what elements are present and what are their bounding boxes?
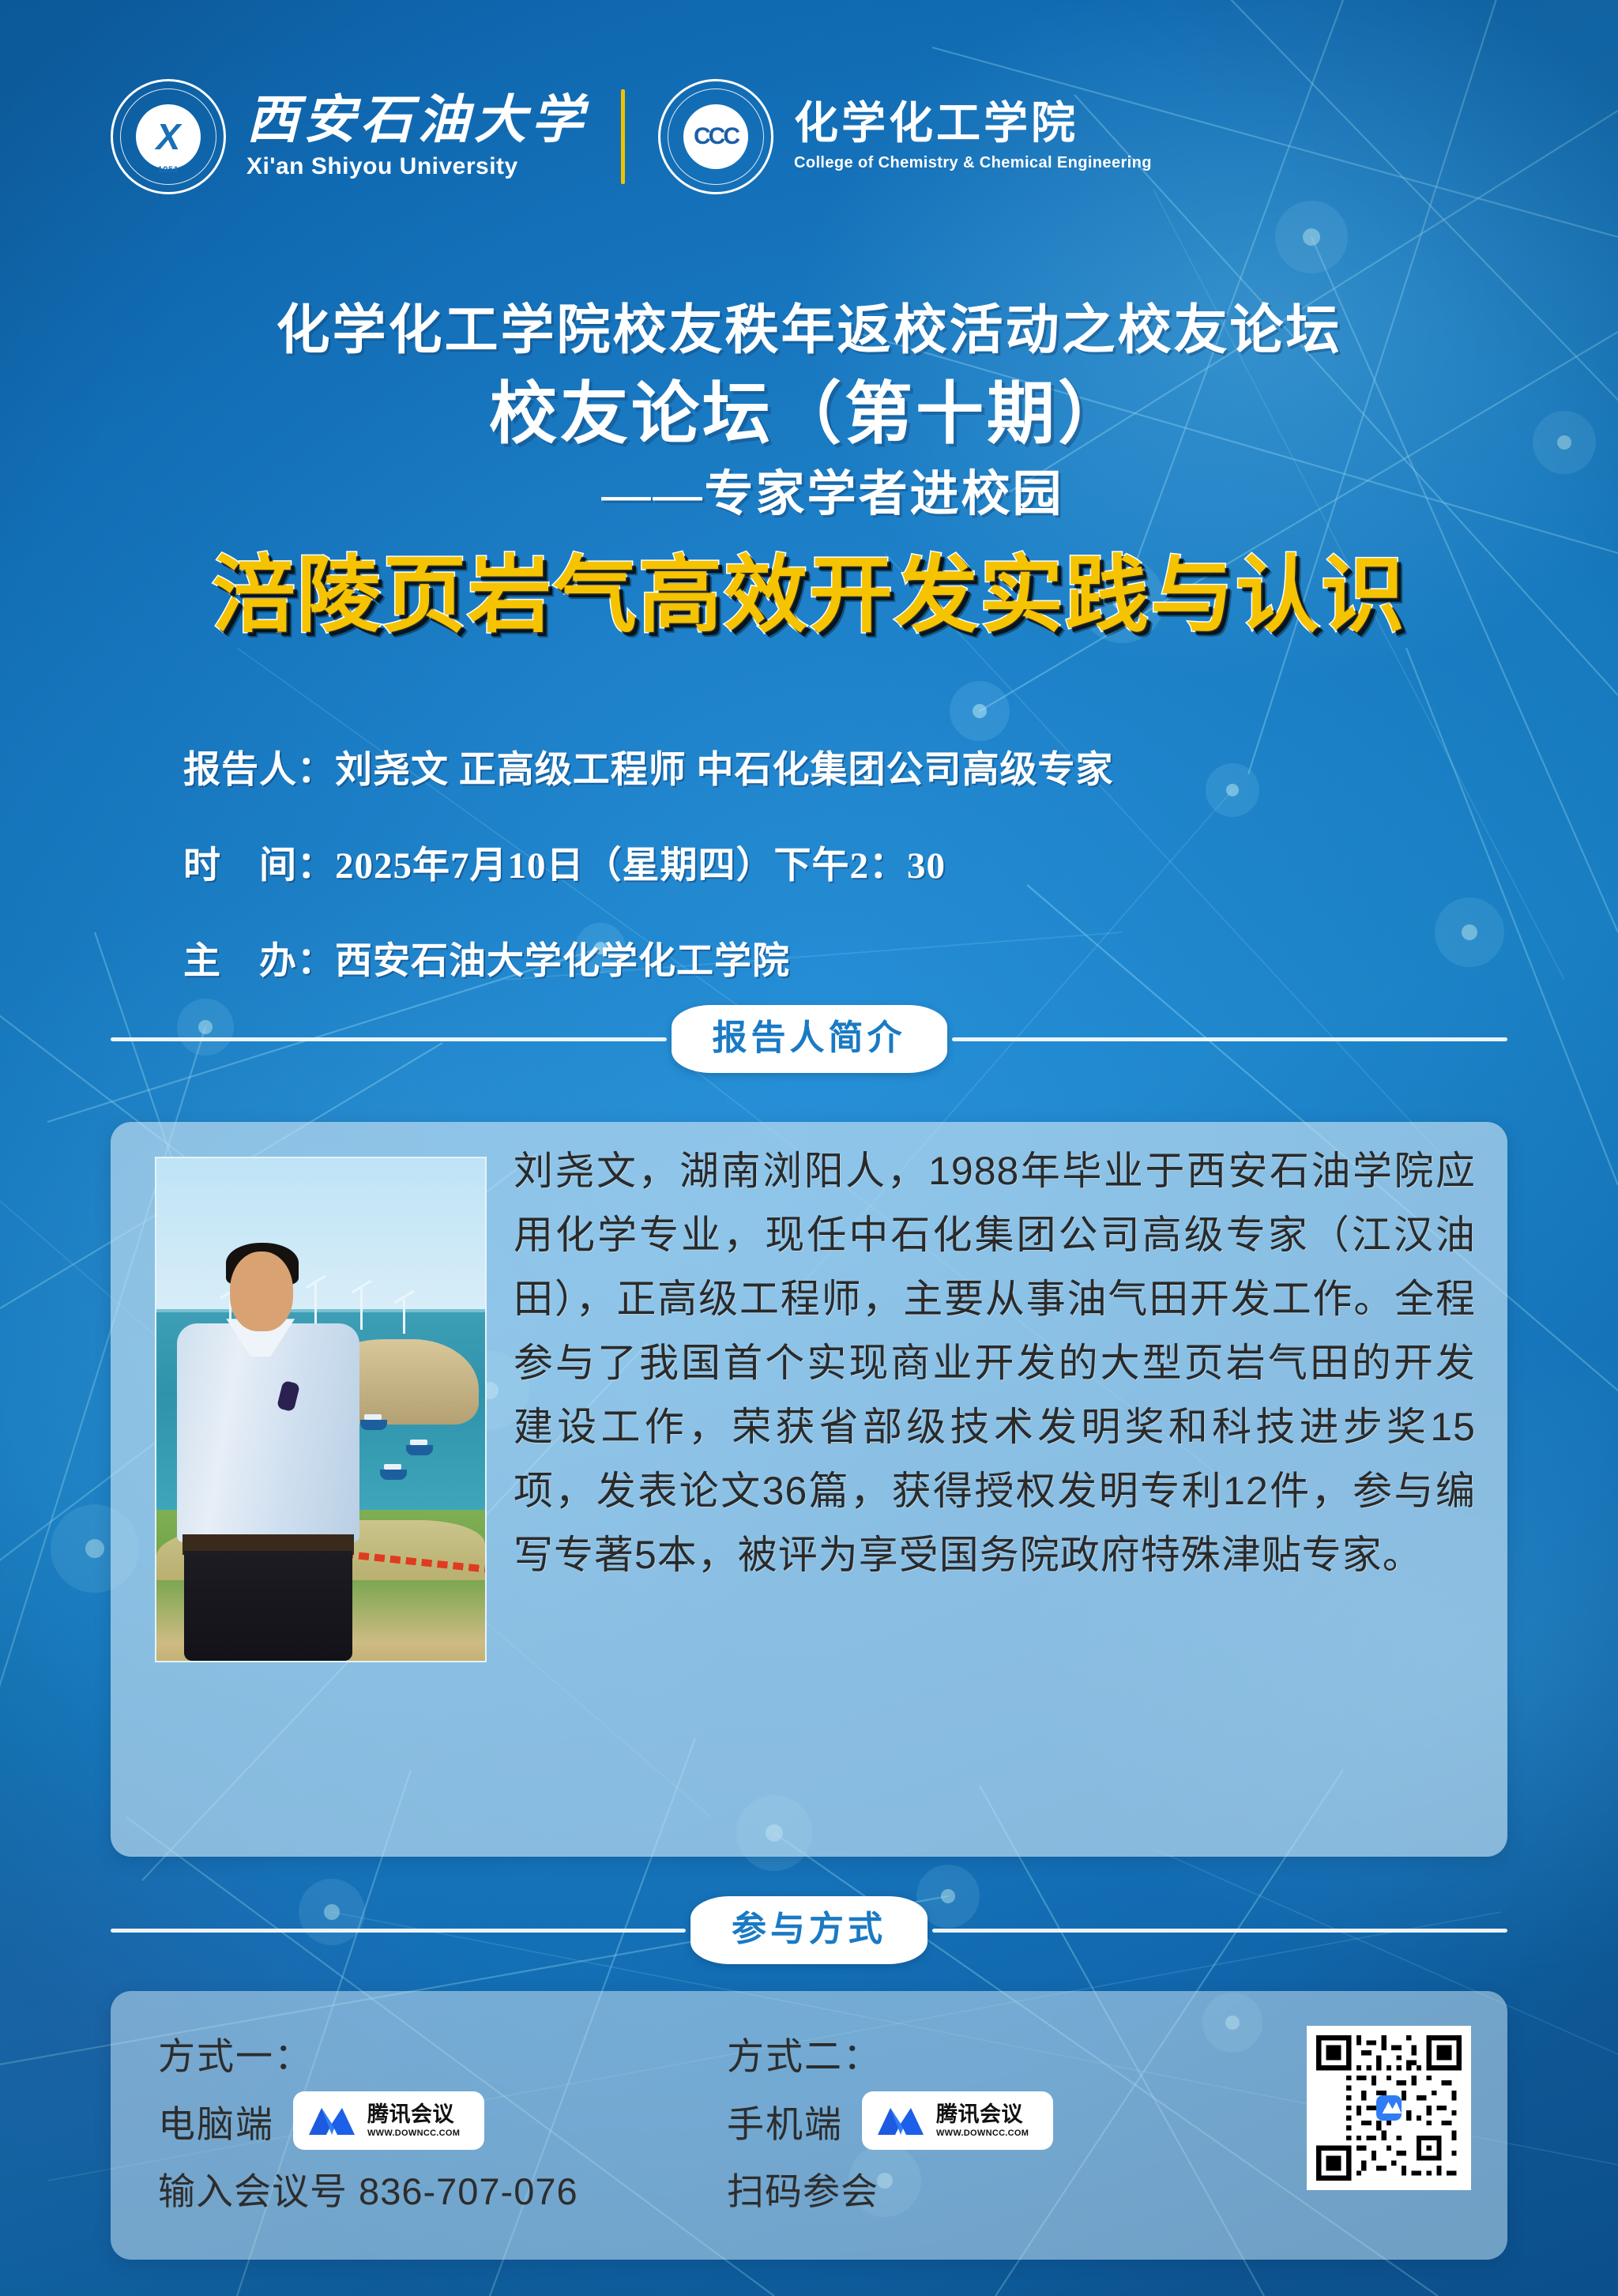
join-method-two-title: 方式二： (727, 2026, 1217, 2080)
section-header-speaker-bio: 报告人简介 (111, 1005, 1507, 1073)
join-method-two-device-label: 手机端 (727, 2094, 843, 2148)
header-divider (621, 89, 625, 184)
section-title-join-method: 参与方式 (690, 1896, 928, 1964)
university-seal-year: 1951 (113, 165, 224, 175)
college-seal-icon: CCC (658, 79, 773, 194)
event-series-title: 化学化工学院校友秩年返校活动之校友论坛 (0, 299, 1618, 362)
tencent-meeting-url-mobile: WWW.DOWNCC.COM (936, 2129, 1029, 2138)
header-logos: X 1951 西安石油大学 Xi'an Shiyou University CC… (111, 79, 1152, 194)
section-rule-left-2 (111, 1929, 686, 1933)
university-seal-icon: X 1951 (111, 79, 226, 194)
tencent-meeting-icon-2 (876, 2103, 925, 2138)
speaker-photo (155, 1157, 487, 1662)
college-monogram-letters: CCC (694, 125, 738, 149)
info-label-time: 时 间： (183, 834, 335, 889)
info-row-speaker: 报告人：刘尧文 正高级工程师 中石化集团公司高级专家 (183, 739, 1114, 793)
event-info-list: 报告人：刘尧文 正高级工程师 中石化集团公司高级专家 时 间：2025年7月10… (183, 739, 1114, 1026)
info-value-organizer: 西安石油大学化学化工学院 (335, 941, 790, 982)
tencent-meeting-name-mobile: 腾讯会议 (936, 2104, 1029, 2125)
tencent-meeting-icon (307, 2103, 356, 2138)
section-rule-right (952, 1037, 1508, 1041)
join-method-one-title: 方式一： (158, 2026, 727, 2080)
join-method-one-instruction: 输入会议号 836-707-076 (158, 2161, 727, 2215)
title-block: 化学化工学院校友秩年返校活动之校友论坛 校友论坛（第十期） ——专家学者进校园 … (0, 299, 1618, 646)
university-wordmark: 西安石油大学 Xi'an Shiyou University (246, 93, 588, 179)
college-logo-lockup: CCC 化学化工学院 College of Chemistry & Chemic… (658, 79, 1152, 194)
info-label-organizer: 主 办： (183, 930, 335, 984)
university-logo-lockup: X 1951 西安石油大学 Xi'an Shiyou University (111, 79, 588, 194)
university-name-cn: 西安石油大学 (246, 93, 588, 148)
university-seal-monogram-icon: X (136, 104, 201, 169)
tencent-meeting-logo-mobile[interactable]: 腾讯会议 WWW.DOWNCC.COM (862, 2091, 1053, 2150)
join-methods-panel: 方式一： 电脑端 腾讯会议 WWW.DOWNCC.COM 输入会议号 836-7… (111, 1991, 1507, 2260)
poster-root: X 1951 西安石油大学 Xi'an Shiyou University CC… (0, 0, 1618, 2296)
info-value-time: 2025年7月10日（星期四）下午2：30 (335, 845, 946, 886)
university-name-en: Xi'an Shiyou University (246, 153, 588, 180)
join-method-two-instruction: 扫码参会 (727, 2161, 1217, 2215)
info-value-speaker: 刘尧文 正高级工程师 中石化集团公司高级专家 (335, 750, 1114, 791)
join-method-one-device-label: 电脑端 (158, 2094, 274, 2148)
event-subtitle: ——专家学者进校园 (0, 465, 1618, 526)
info-row-organizer: 主 办：西安石油大学化学化工学院 (183, 930, 1114, 984)
section-header-join-method: 参与方式 (111, 1896, 1507, 1964)
college-name-cn: 化学化工学院 (794, 101, 1152, 148)
section-rule-right-2 (932, 1929, 1507, 1933)
tencent-meeting-logo-desktop[interactable]: 腾讯会议 WWW.DOWNCC.COM (293, 2091, 484, 2150)
info-row-time: 时 间：2025年7月10日（星期四）下午2：30 (183, 834, 1114, 889)
section-title-speaker-bio: 报告人简介 (672, 1005, 947, 1073)
info-label-speaker: 报告人： (183, 739, 335, 793)
tencent-meeting-name-desktop: 腾讯会议 (367, 2104, 460, 2125)
tencent-meeting-url-desktop: WWW.DOWNCC.COM (367, 2129, 460, 2138)
qr-code-icon (1316, 2035, 1462, 2181)
speaker-bio-panel: 刘尧文，湖南浏阳人，1988年毕业于西安石油学院应用化学专业，现任中石化集团公司… (111, 1122, 1507, 1857)
university-monogram-letter: X (156, 119, 181, 155)
lecture-topic-title: 涪陵页岩气高效开发实践与认识 (0, 547, 1618, 646)
college-wordmark: 化学化工学院 College of Chemistry & Chemical E… (794, 101, 1152, 172)
join-method-two: 方式二： 手机端 腾讯会议 WWW.DOWNCC.COM 扫码参会 (727, 2026, 1217, 2215)
join-method-one: 方式一： 电脑端 腾讯会议 WWW.DOWNCC.COM 输入会议号 836-7… (158, 2026, 727, 2215)
college-name-en: College of Chemistry & Chemical Engineer… (794, 154, 1152, 172)
section-rule-left (111, 1037, 667, 1041)
college-seal-monogram-icon: CCC (683, 104, 748, 169)
page-title: 校友论坛（第十期） (0, 368, 1618, 460)
qr-code[interactable] (1307, 2026, 1471, 2190)
